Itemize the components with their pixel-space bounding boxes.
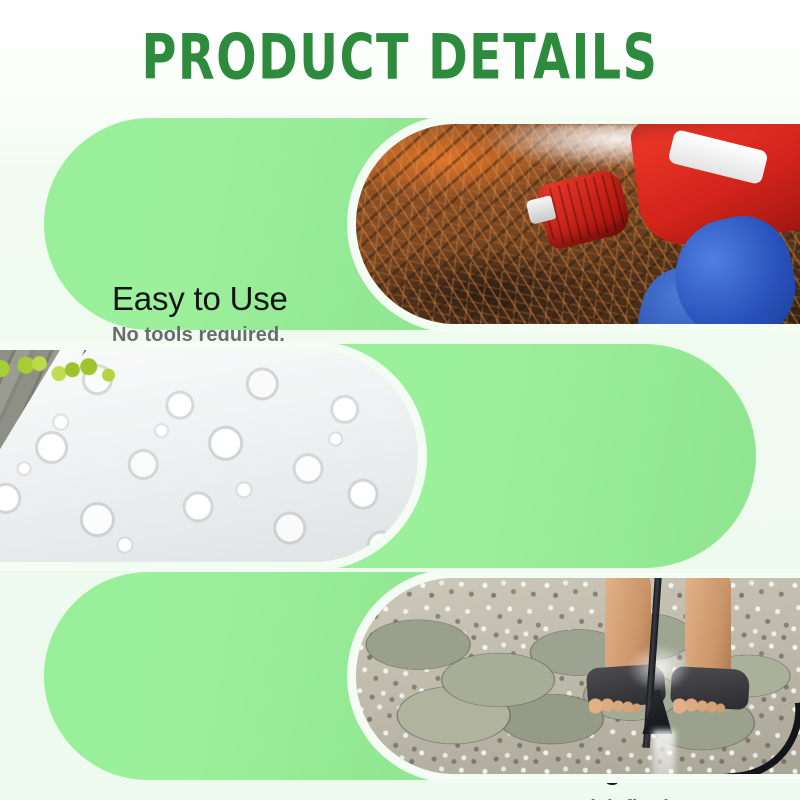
feature-1-heading: Easy to Use bbox=[112, 282, 288, 316]
feature-card-high-adhesive-strength: High-Adhesive Strength Keeps mulch firml… bbox=[0, 344, 800, 568]
feature-card-easy-to-use: Easy to Use No tools required, quick app… bbox=[0, 118, 800, 330]
product-details-infographic: PRODUCT DETAILS Easy to Use No tools req… bbox=[0, 0, 800, 800]
green-plants-secondary bbox=[0, 350, 97, 384]
page-title: PRODUCT DETAILS bbox=[0, 22, 800, 94]
feature-card-weather-resistant-performance: Weather-Resistant Performance Stands up … bbox=[0, 572, 800, 780]
white-gravel-deck-photo bbox=[0, 350, 418, 562]
rocks-feet-hose-photo bbox=[356, 578, 800, 774]
mulch-spray-bottle-photo bbox=[356, 124, 800, 324]
